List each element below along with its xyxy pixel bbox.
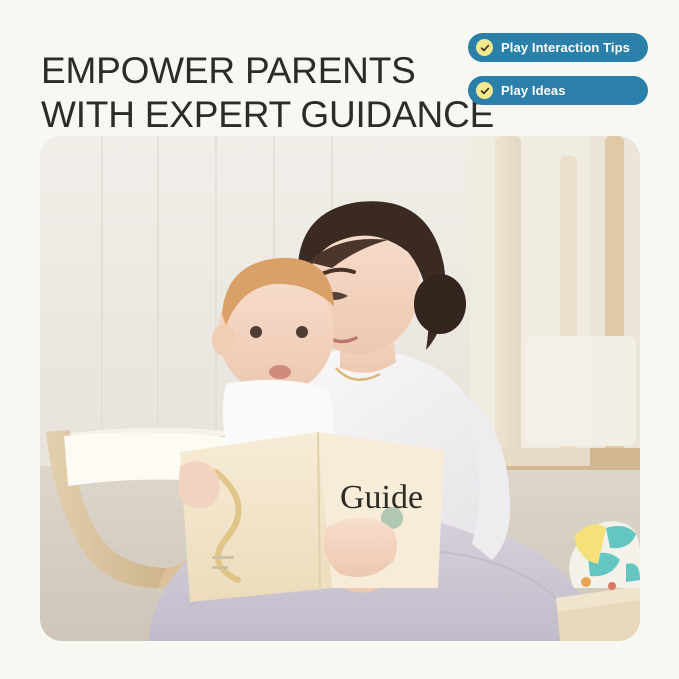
headline-line-1: EMPOWER PARENTS	[41, 49, 471, 93]
feature-badge-list: Play Interaction Tips Play Ideas	[468, 33, 650, 105]
check-circle-icon	[476, 82, 493, 99]
header: EMPOWER PARENTS WITH EXPERT GUIDANCE Pla…	[0, 0, 679, 136]
headline-line-2: WITH EXPERT GUIDANCE	[41, 93, 471, 137]
hero-photo: Guide	[40, 136, 640, 641]
hero-photo-illustration: Guide	[40, 136, 640, 641]
badge-play-ideas[interactable]: Play Ideas	[468, 76, 648, 105]
badge-label: Play Interaction Tips	[501, 41, 630, 54]
promo-card: EMPOWER PARENTS WITH EXPERT GUIDANCE Pla…	[0, 0, 679, 679]
book-cover-title: Guide	[340, 479, 423, 516]
badge-play-interaction-tips[interactable]: Play Interaction Tips	[468, 33, 648, 62]
badge-label: Play Ideas	[501, 84, 566, 97]
page-title: EMPOWER PARENTS WITH EXPERT GUIDANCE	[41, 49, 471, 137]
check-circle-icon	[476, 39, 493, 56]
